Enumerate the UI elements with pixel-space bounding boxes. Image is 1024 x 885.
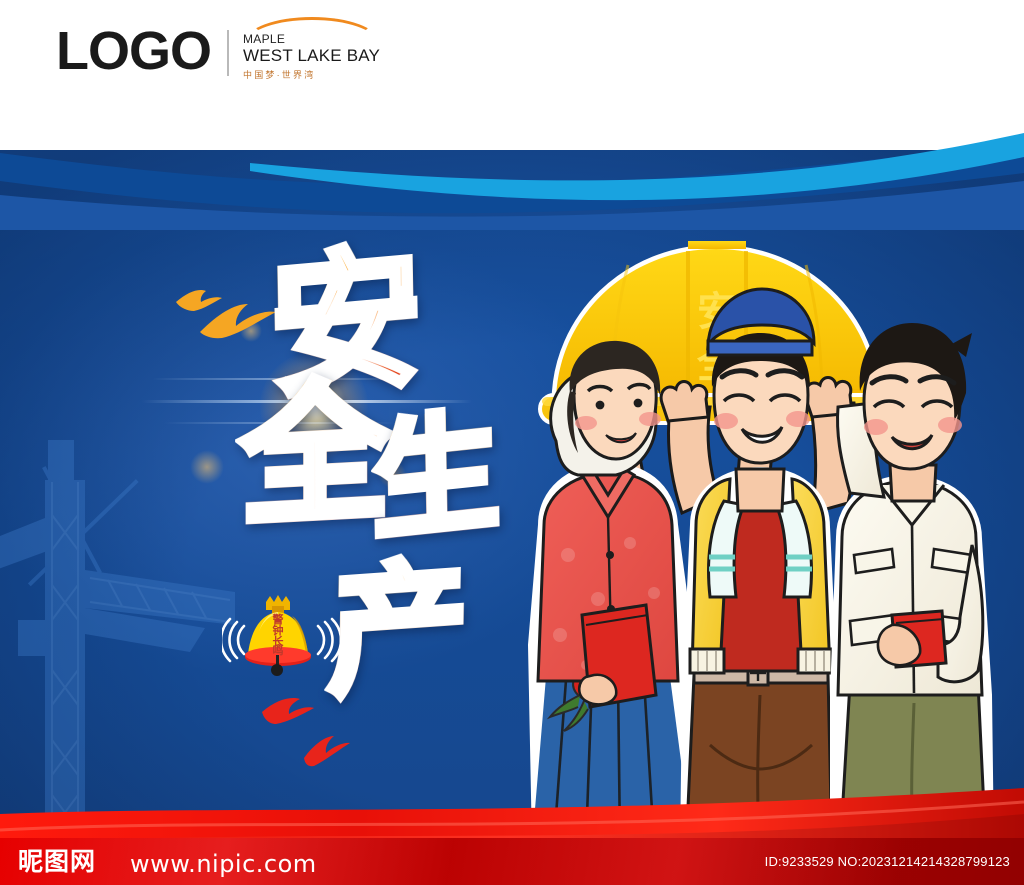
logo-text: LOGO [56, 22, 211, 80]
asset-id-text: ID:9233529 NO:20231214214328799123 [765, 854, 1010, 869]
title-char-chan: 产 [327, 555, 469, 705]
alarm-bell-graphic: 警 钟 长 鸣 [222, 592, 340, 684]
watermark-footer: 昵图网 www.nipic.com ID:9233529 NO:20231214… [0, 838, 1024, 885]
site-name-cn: 昵图网 [18, 847, 96, 877]
site-url[interactable]: www.nipic.com [130, 850, 317, 878]
svg-text:鸣: 鸣 [273, 643, 284, 657]
brand-line2: WEST LAKE BAY [243, 46, 380, 66]
brand-logo[interactable]: LOGO MAPLE WEST LAKE BAY 中国梦·世界湾 [56, 22, 380, 81]
brand-slogan-cn: 中国梦·世界湾 [243, 69, 380, 81]
title-char-sheng: 生 [371, 406, 501, 548]
safety-production-poster: 安 全 生 产 [0, 0, 1024, 885]
brand-text-block: MAPLE WEST LAKE BAY 中国梦·世界湾 [243, 22, 380, 81]
logo-divider [227, 30, 229, 76]
title-char-quan: 全 [240, 376, 390, 534]
brand-line1: MAPLE [243, 32, 380, 46]
workers-illustration: 安 全 [520, 225, 1024, 855]
